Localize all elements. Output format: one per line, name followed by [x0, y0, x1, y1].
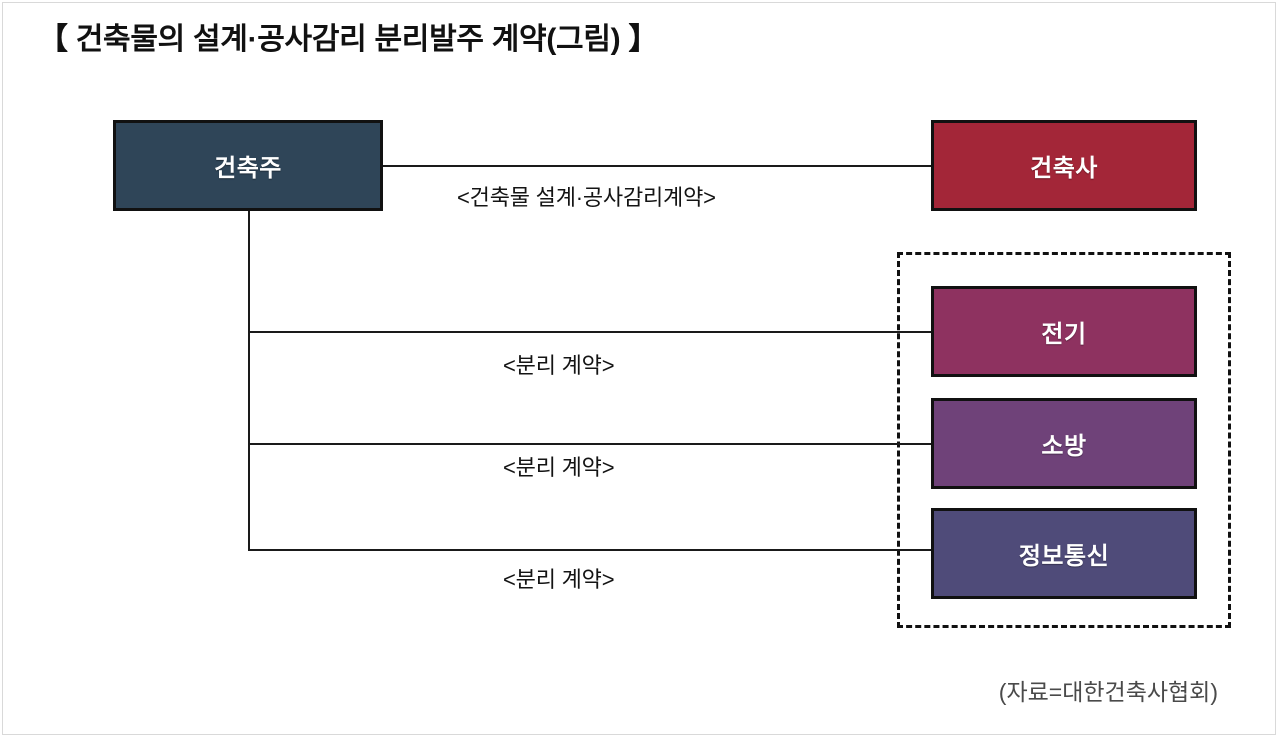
connector-owner-to-telecom: [248, 549, 931, 551]
node-fire-label: 소방: [1041, 426, 1086, 461]
node-fire: 소방: [931, 398, 1197, 489]
source-attribution: (자료=대한건축사협회): [999, 673, 1218, 707]
diagram-canvas: 【 건축물의 설계·공사감리 분리발주 계약(그림) 】 <건축물 설계·공사감…: [0, 0, 1280, 739]
node-electric: 전기: [931, 286, 1197, 377]
node-owner: 건축주: [113, 120, 383, 211]
edge-label-separate-contract-electric: <분리 계약>: [503, 348, 614, 380]
connector-owner-to-fire: [248, 443, 931, 445]
node-telecom: 정보통신: [931, 508, 1197, 599]
node-telecom-label: 정보통신: [1019, 536, 1109, 571]
node-owner-label: 건축주: [214, 148, 282, 183]
edge-label-separate-contract-telecom: <분리 계약>: [503, 562, 614, 594]
node-architect: 건축사: [931, 120, 1197, 211]
connector-owner-to-electric: [248, 331, 931, 333]
edge-label-separate-contract-fire: <분리 계약>: [503, 450, 614, 482]
connector-owner-trunk: [248, 211, 250, 549]
edge-label-design-supervision-contract: <건축물 설계·공사감리계약>: [457, 180, 716, 212]
connector-owner-to-architect: [383, 165, 931, 167]
node-architect-label: 건축사: [1030, 148, 1098, 183]
node-electric-label: 전기: [1041, 314, 1086, 349]
page-title: 【 건축물의 설계·공사감리 분리발주 계약(그림) 】: [38, 14, 658, 58]
